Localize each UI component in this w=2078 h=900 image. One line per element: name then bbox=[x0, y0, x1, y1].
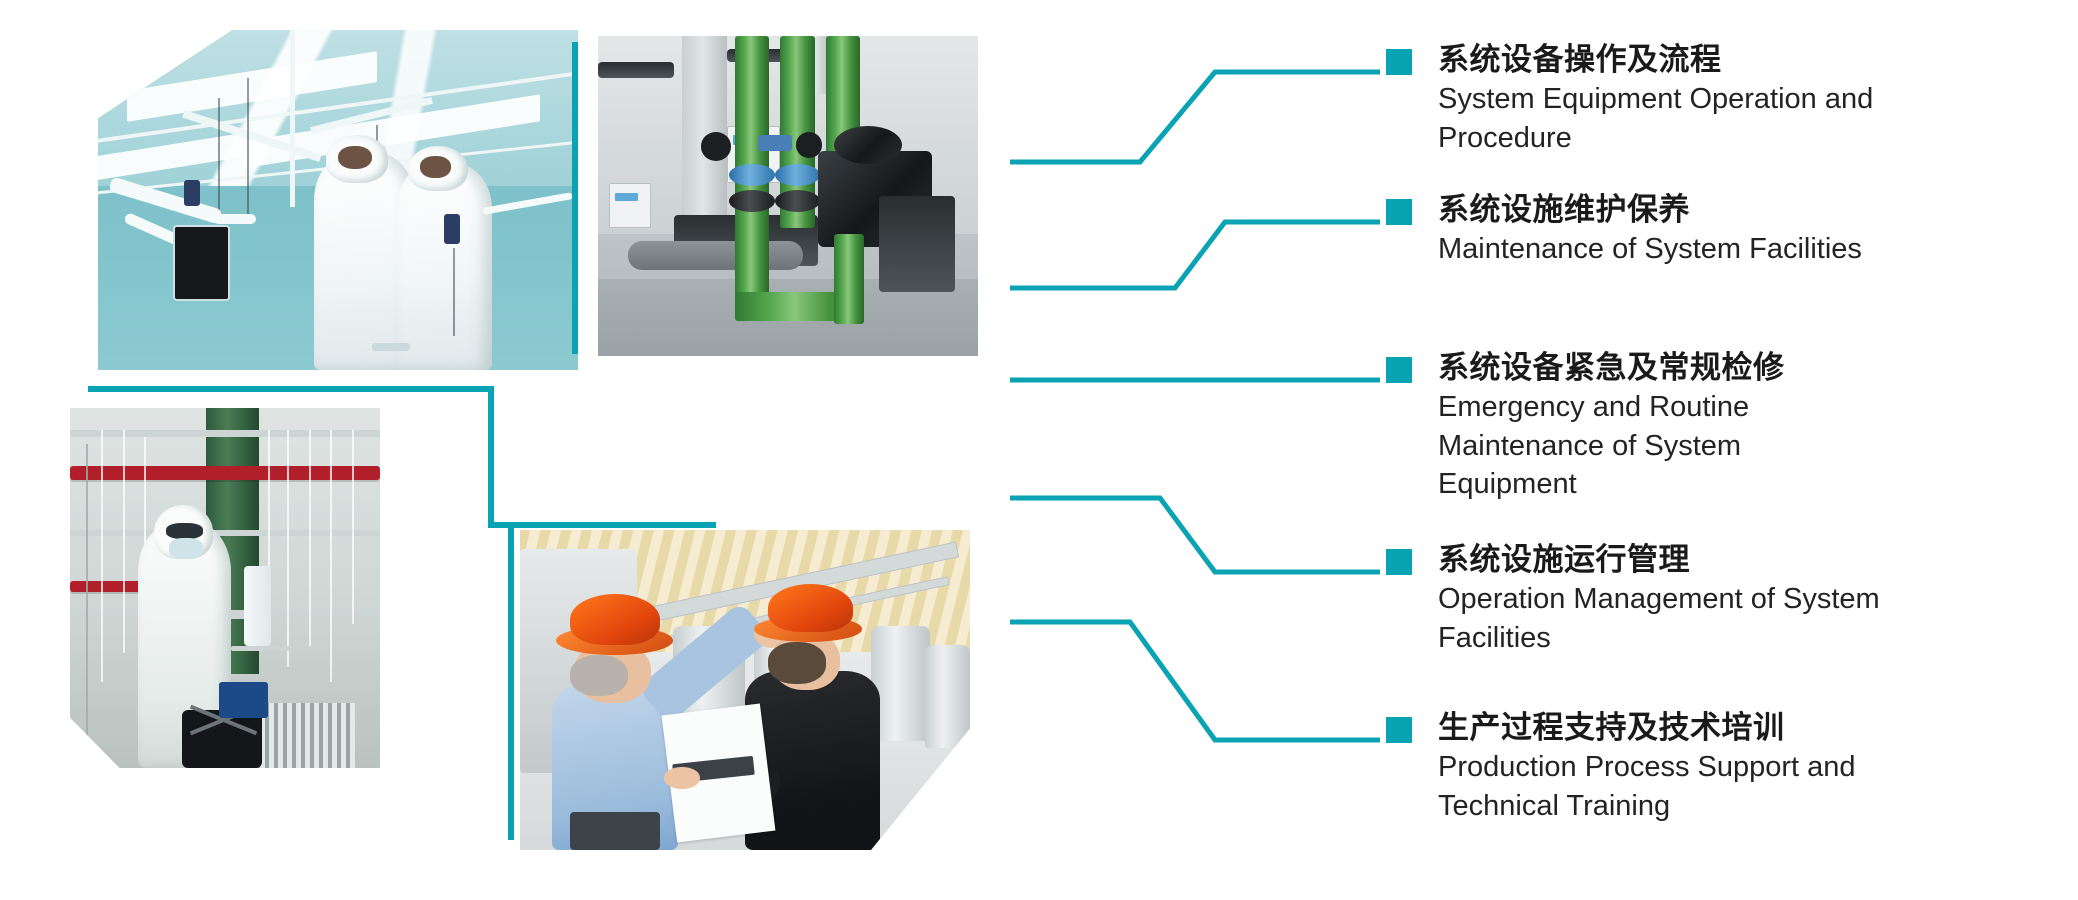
square-bullet-icon bbox=[1386, 357, 1412, 383]
connector-lines bbox=[1010, 0, 1410, 900]
photo-collage bbox=[0, 0, 1010, 900]
service-title-cn-2: 系统设施维护保养 bbox=[1438, 190, 1862, 230]
service-item-5[interactable]: 生产过程支持及技术培训 Production Process Support a… bbox=[1386, 708, 1908, 825]
service-title-en-2: Maintenance of System Facilities bbox=[1438, 230, 1862, 269]
collage-divider-vertical-mid bbox=[488, 386, 494, 528]
service-title-en-1: System Equipment Operation and Procedure bbox=[1438, 80, 1958, 157]
green-pipes-pump-room-photo bbox=[598, 36, 978, 356]
service-list: 系统设备操作及流程 System Equipment Operation and… bbox=[1386, 0, 2078, 900]
service-item-3[interactable]: 系统设备紧急及常规检修 Emergency and Routine Mainte… bbox=[1386, 348, 1868, 504]
collage-divider-vertical-bottom bbox=[508, 522, 514, 840]
service-title-cn-3: 系统设备紧急及常规检修 bbox=[1438, 348, 1868, 388]
square-bullet-icon bbox=[1386, 717, 1412, 743]
connector-line-2 bbox=[1010, 222, 1380, 288]
service-title-en-5: Production Process Support and Technical… bbox=[1438, 748, 1908, 825]
slide-canvas: 系统设备操作及流程 System Equipment Operation and… bbox=[0, 0, 2078, 900]
service-title-cn-5: 生产过程支持及技术培训 bbox=[1438, 708, 1908, 748]
service-item-1[interactable]: 系统设备操作及流程 System Equipment Operation and… bbox=[1386, 40, 1958, 157]
service-item-2[interactable]: 系统设施维护保养 Maintenance of System Facilitie… bbox=[1386, 190, 1862, 269]
service-title-en-3: Emergency and Routine Maintenance of Sys… bbox=[1438, 388, 1868, 504]
service-title-cn-4: 系统设施运行管理 bbox=[1438, 540, 1938, 580]
service-title-cn-1: 系统设备操作及流程 bbox=[1438, 40, 1958, 80]
square-bullet-icon bbox=[1386, 549, 1412, 575]
collage-divider-horizontal-mid bbox=[88, 386, 494, 392]
square-bullet-icon bbox=[1386, 49, 1412, 75]
cleanroom-worker-equipment-photo bbox=[70, 408, 380, 768]
service-item-4[interactable]: 系统设施运行管理 Operation Management of System … bbox=[1386, 540, 1938, 657]
engineers-hardhats-photo bbox=[520, 530, 970, 850]
cleanroom-technicians-photo bbox=[98, 30, 578, 370]
connector-line-5 bbox=[1010, 622, 1380, 740]
collage-divider-horizontal-bottom bbox=[488, 522, 716, 528]
service-title-en-4: Operation Management of System Facilitie… bbox=[1438, 580, 1938, 657]
connector-line-1 bbox=[1010, 72, 1380, 162]
collage-divider-vertical-top bbox=[572, 42, 578, 354]
square-bullet-icon bbox=[1386, 199, 1412, 225]
connector-line-4 bbox=[1010, 498, 1380, 572]
